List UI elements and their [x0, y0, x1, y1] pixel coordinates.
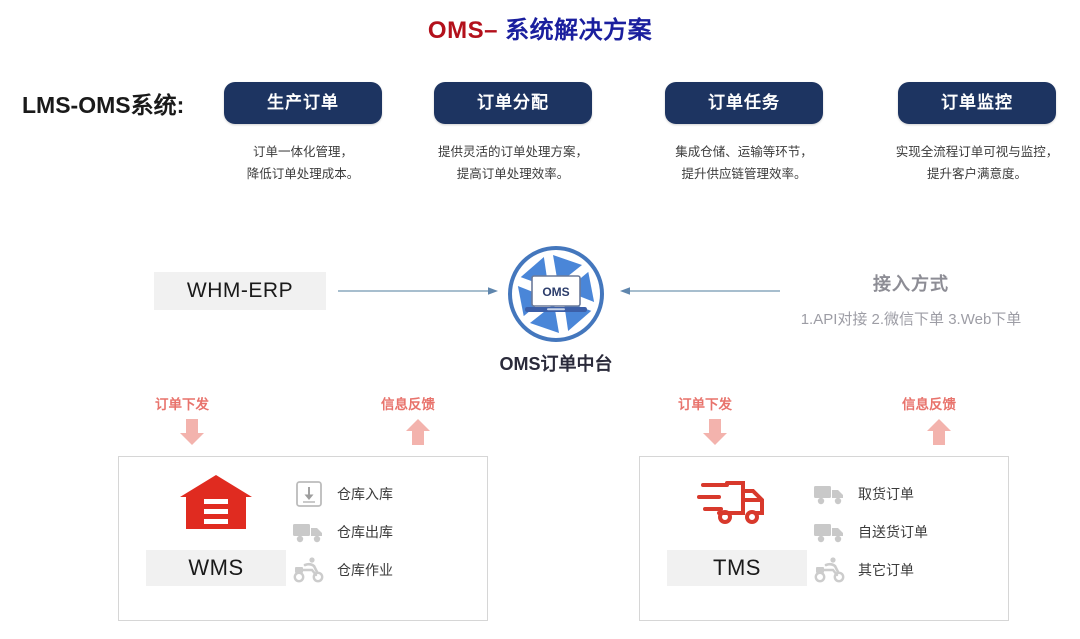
page-title-prefix: OMS– — [428, 17, 498, 44]
arrow-down-pink-icon — [177, 417, 207, 447]
feature-card-description-line: 降低订单处理成本。 — [224, 164, 382, 186]
arrow-erp-to-hub-icon — [338, 285, 498, 297]
list-item-label: 其它订单 — [852, 560, 914, 580]
inbound-box-icon — [287, 479, 331, 509]
flow-label-order-dispatch-wms: 订单下发 — [155, 393, 209, 413]
whm-erp-box[interactable]: WHM-ERP — [154, 272, 326, 310]
access-methods-title: 接入方式 — [752, 270, 1070, 296]
feature-card-description-line: 提高订单处理效率。 — [412, 164, 614, 186]
list-item[interactable]: 仓库出库 — [287, 513, 477, 551]
oms-hub-aperture-icon: OMS — [492, 244, 620, 344]
flow-label-info-feedback-tms: 信息反馈 — [902, 393, 956, 413]
tms-function-list: 取货订单 自送货订单 — [808, 475, 998, 589]
oms-hub-logo-text: OMS — [542, 285, 569, 299]
page-title-main: 系统解决方案 — [505, 17, 652, 44]
feature-card-button[interactable]: 订单分配 — [434, 82, 592, 124]
feature-card-description-line: 订单一体化管理， — [224, 142, 382, 164]
feature-card-description-line: 实现全流程订单可视与监控， — [876, 142, 1078, 164]
tms-panel-identity: TMS — [662, 471, 812, 586]
feature-card-production-order[interactable]: 生产订单 订单一体化管理， 降低订单处理成本。 — [224, 82, 382, 186]
warehouse-icon — [178, 471, 254, 533]
feature-card-order-allocation[interactable]: 订单分配 提供灵活的订单处理方案， 提高订单处理效率。 — [434, 82, 592, 186]
wms-function-list: 仓库入库 仓库出库 — [287, 475, 477, 589]
wms-panel-name: WMS — [146, 550, 286, 586]
feature-card-description-line: 提供灵活的订单处理方案， — [412, 142, 614, 164]
feature-card-button[interactable]: 订单任务 — [665, 82, 823, 124]
feature-card-description: 实现全流程订单可视与监控， 提升客户满意度。 — [876, 142, 1078, 186]
flow-label-order-dispatch-tms: 订单下发 — [678, 393, 732, 413]
scooter-icon — [808, 556, 852, 584]
oms-hub-label: OMS订单中台 — [460, 350, 652, 376]
feature-card-description-line: 提升客户满意度。 — [876, 164, 1078, 186]
feature-card-description-line: 集成仓储、运输等环节， — [643, 142, 845, 164]
list-item-label: 自送货订单 — [852, 522, 928, 542]
feature-card-button[interactable]: 订单监控 — [898, 82, 1056, 124]
arrow-up-pink-icon — [403, 417, 433, 447]
list-item-label: 仓库出库 — [331, 522, 393, 542]
list-item[interactable]: 仓库作业 — [287, 551, 477, 589]
list-item[interactable]: 其它订单 — [808, 551, 998, 589]
fast-truck-icon — [697, 471, 777, 533]
list-item[interactable]: 自送货订单 — [808, 513, 998, 551]
access-methods-list: 1.API对接 2.微信下单 3.Web下单 — [752, 308, 1070, 329]
flow-label-info-feedback-wms: 信息反馈 — [381, 393, 435, 413]
feature-card-description-line: 提升供应链管理效率。 — [643, 164, 845, 186]
feature-card-order-task[interactable]: 订单任务 集成仓储、运输等环节， 提升供应链管理效率。 — [665, 82, 823, 186]
feature-card-order-monitoring[interactable]: 订单监控 实现全流程订单可视与监控， 提升客户满意度。 — [898, 82, 1056, 186]
list-item-label: 仓库入库 — [331, 484, 393, 504]
system-label: LMS-OMS系统: — [22, 86, 184, 120]
arrow-down-pink-icon — [700, 417, 730, 447]
truck-icon — [287, 519, 331, 545]
wms-panel-identity: WMS — [141, 471, 291, 586]
list-item[interactable]: 取货订单 — [808, 475, 998, 513]
list-item[interactable]: 仓库入库 — [287, 475, 477, 513]
page-title: OMS– 系统解决方案 — [0, 10, 1080, 45]
tms-panel-name: TMS — [667, 550, 807, 586]
scooter-icon — [287, 556, 331, 584]
feature-card-description: 集成仓储、运输等环节， 提升供应链管理效率。 — [643, 142, 845, 186]
arrow-up-pink-icon — [924, 417, 954, 447]
access-methods-block: 接入方式 1.API对接 2.微信下单 3.Web下单 — [752, 270, 1070, 329]
truck-icon — [808, 481, 852, 507]
tms-panel: TMS 取货订单 自送货订 — [639, 456, 1009, 621]
feature-card-button[interactable]: 生产订单 — [224, 82, 382, 124]
list-item-label: 仓库作业 — [331, 560, 393, 580]
feature-card-description: 提供灵活的订单处理方案， 提高订单处理效率。 — [412, 142, 614, 186]
truck-icon — [808, 519, 852, 545]
list-item-label: 取货订单 — [852, 484, 914, 504]
wms-panel: WMS 仓库入库 仓库出库 — [118, 456, 488, 621]
feature-card-description: 订单一体化管理， 降低订单处理成本。 — [224, 142, 382, 186]
